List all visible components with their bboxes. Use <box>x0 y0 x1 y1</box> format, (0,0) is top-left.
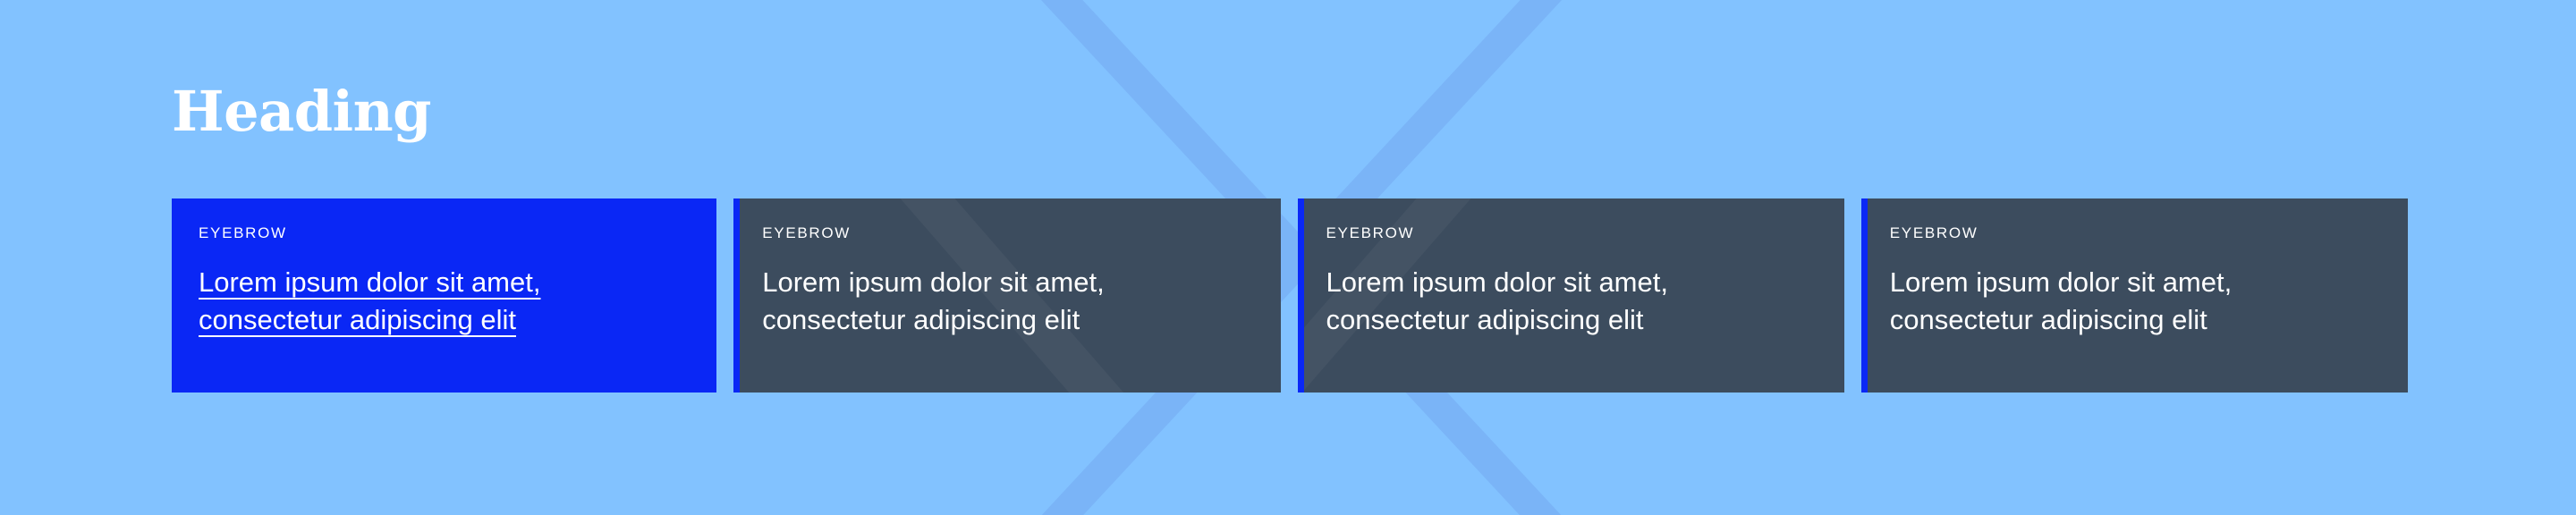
card-item-2[interactable]: EYEBROW Lorem ipsum dolor sit amet, cons… <box>733 198 1280 393</box>
card-item-3[interactable]: EYEBROW Lorem ipsum dolor sit amet, cons… <box>1298 198 1844 393</box>
page-title: Heading <box>172 0 2408 139</box>
card-title-link[interactable]: Lorem ipsum dolor sit amet, consectetur … <box>762 264 1156 338</box>
card-row: EYEBROW Lorem ipsum dolor sit amet, cons… <box>172 198 2408 393</box>
card-eyebrow: EYEBROW <box>1326 225 1818 241</box>
card-item-4[interactable]: EYEBROW Lorem ipsum dolor sit amet, cons… <box>1861 198 2408 393</box>
card-eyebrow: EYEBROW <box>1890 225 2381 241</box>
card-title-link[interactable]: Lorem ipsum dolor sit amet, consectetur … <box>199 264 592 338</box>
card-eyebrow: EYEBROW <box>762 225 1253 241</box>
card-title-link[interactable]: Lorem ipsum dolor sit amet, consectetur … <box>1890 264 2284 338</box>
page-container: Heading EYEBROW Lorem ipsum dolor sit am… <box>0 0 2576 515</box>
card-item-1[interactable]: EYEBROW Lorem ipsum dolor sit amet, cons… <box>172 198 716 393</box>
card-eyebrow: EYEBROW <box>199 225 690 241</box>
card-title-link[interactable]: Lorem ipsum dolor sit amet, consectetur … <box>1326 264 1720 338</box>
